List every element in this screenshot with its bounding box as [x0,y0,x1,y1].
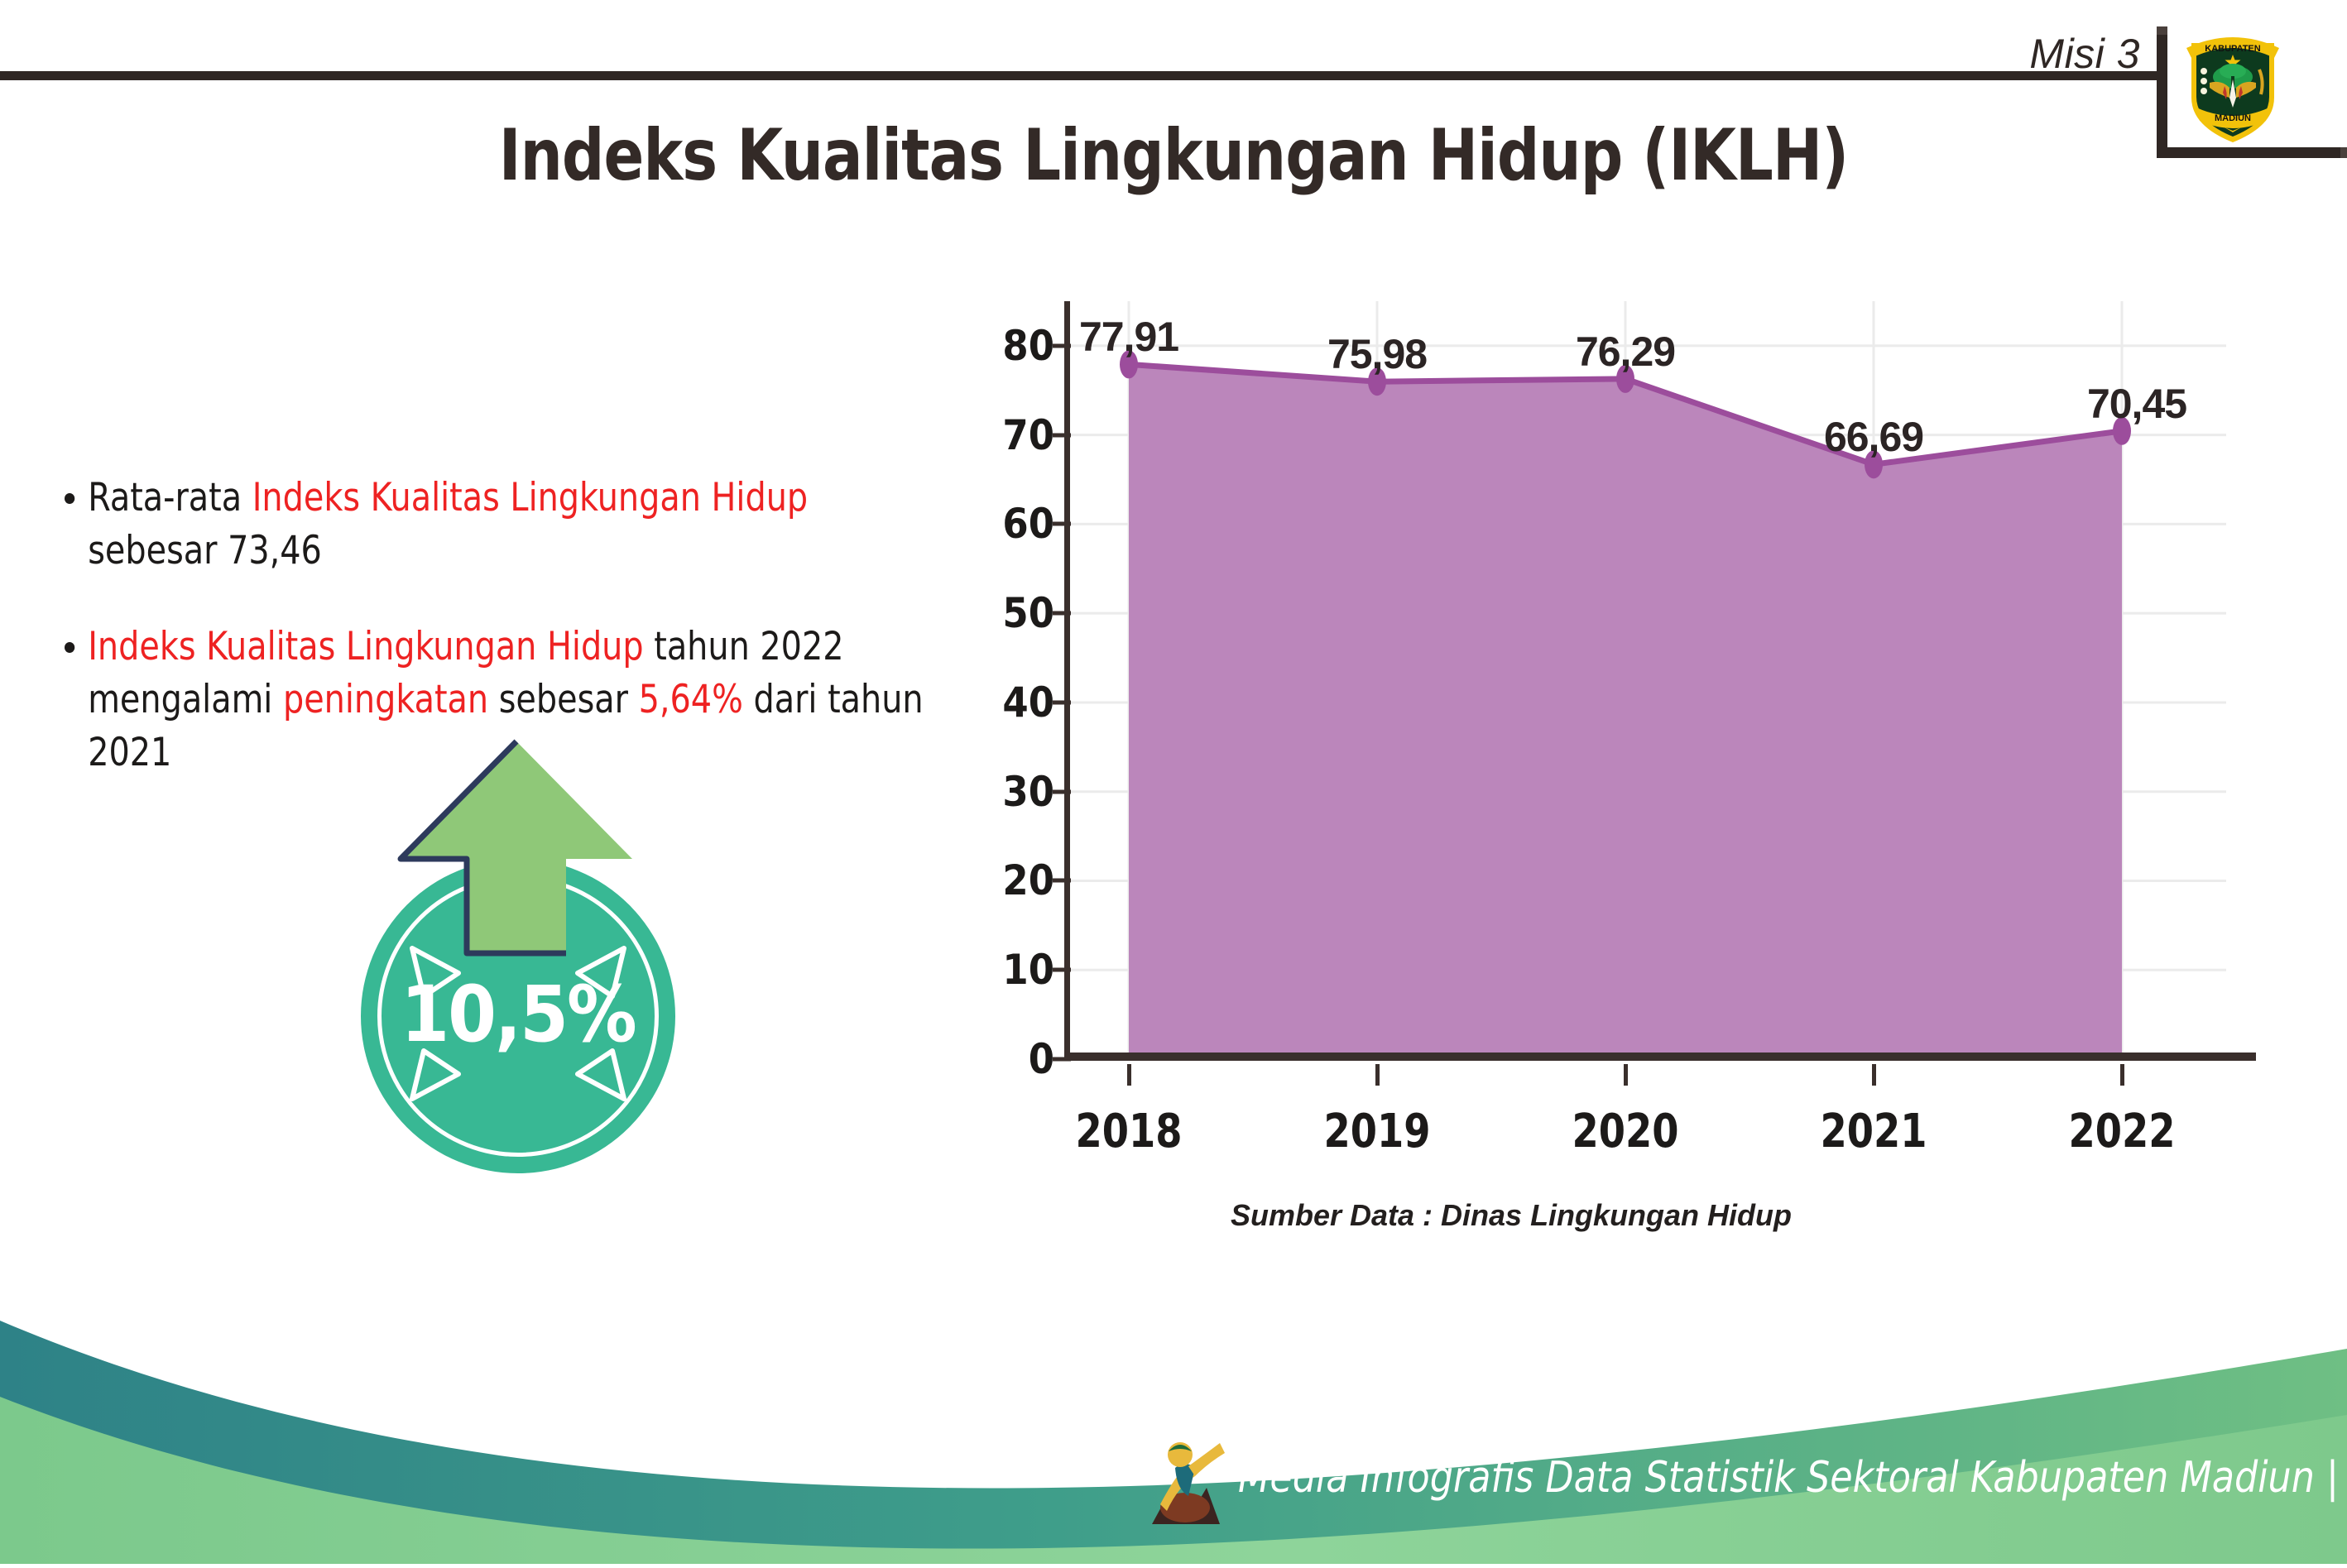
data-point-label: 66,69 [1824,413,1923,461]
iklh-area-chart: 01020304050607080 20182019202020212022 7… [982,281,2256,1258]
y-axis-tick-label: 0 [1029,1035,1054,1083]
source-note: Sumber Data : Dinas Lingkungan Hidup [1231,1198,1792,1233]
bullet-dot [65,642,74,653]
bullet-list: Rata-rata Indeks Kualitas Lingkungan Hid… [65,472,928,779]
infographic-page: Misi 3 KABUPATEN [0,0,2347,1564]
bullet-segment: Indeks Kualitas Lingkungan Hidup [252,475,808,520]
data-point-label: 76,29 [1576,328,1675,376]
x-axis-tick-mark [1624,1064,1628,1086]
bullet-text-1: Rata-rata Indeks Kualitas Lingkungan Hid… [88,475,808,573]
y-axis-tick-label: 30 [1002,768,1054,816]
increase-badge: 10,5% [321,736,772,1187]
y-axis-tick-mark [1053,522,1071,526]
y-axis-tick-label: 80 [1002,322,1054,370]
bullet-segment: 5,64% [639,677,743,722]
bullet-segment: peningkatan [283,677,488,722]
y-axis-line [1064,301,1070,1059]
y-axis-tick-label: 40 [1002,679,1054,726]
data-point-label: 70,45 [2087,380,2186,428]
x-axis-tick-label: 2018 [1075,1105,1182,1158]
x-axis-tick-label: 2021 [1820,1105,1927,1158]
y-axis-tick-label: 60 [1002,500,1054,548]
x-axis-line [1064,1053,2256,1061]
mission-label: Misi 3 [2029,30,2140,78]
data-point-label: 75,98 [1327,330,1427,378]
y-axis-tick-label: 50 [1002,589,1054,637]
dancer-figure-icon [1137,1425,1230,1541]
y-axis-tick-mark [1053,789,1071,794]
x-axis-tick-label: 2019 [1323,1105,1430,1158]
data-point-label: 77,91 [1079,313,1178,361]
chart-area [1129,364,2122,1059]
y-axis-tick-mark [1053,700,1071,704]
bullet-item-1: Rata-rata Indeks Kualitas Lingkungan Hid… [65,472,928,578]
y-axis-tick-mark [1053,879,1071,883]
x-axis-tick-mark [1127,1064,1131,1086]
svg-text:KABUPATEN: KABUPATEN [2205,44,2260,54]
bullet-segment: sebesar 73,46 [88,528,322,573]
y-axis-tick-label: 10 [1002,946,1054,994]
x-axis-tick-label: 2020 [1572,1105,1678,1158]
page-title: Indeks Kualitas Lingkungan Hidup (IKLH) [82,114,2264,197]
y-axis-tick-label: 70 [1002,411,1054,459]
footer-caption: Media Infografis Data Statistik Sektoral… [1238,1453,2339,1503]
y-axis-tick-mark [1053,433,1071,437]
y-axis-tick-label: 20 [1002,856,1054,904]
badge-value: 10,5% [361,976,675,1054]
x-axis-tick-mark [1872,1064,1876,1086]
header-rule [0,71,2165,80]
y-axis-tick-mark [1053,611,1071,616]
x-axis-tick-mark [1375,1064,1380,1086]
bullet-dot [65,493,74,504]
y-axis-tick-mark [1053,343,1071,348]
chart-plot-area [1068,301,2226,1059]
bullet-segment: sebesar [488,677,639,722]
y-axis-tick-mark [1053,1057,1071,1062]
bullet-segment: Indeks Kualitas Lingkungan Hidup [88,624,643,669]
y-axis-tick-mark [1053,968,1071,972]
x-axis-tick-mark [2120,1064,2124,1086]
bullet-segment: Rata-rata [88,475,252,520]
up-arrow-icon [396,736,637,960]
chart-svg [1068,301,2226,1059]
x-axis-tick-label: 2022 [2068,1105,2175,1158]
footer-banner: Media Infografis Data Statistik Sektoral… [0,1291,2347,1564]
